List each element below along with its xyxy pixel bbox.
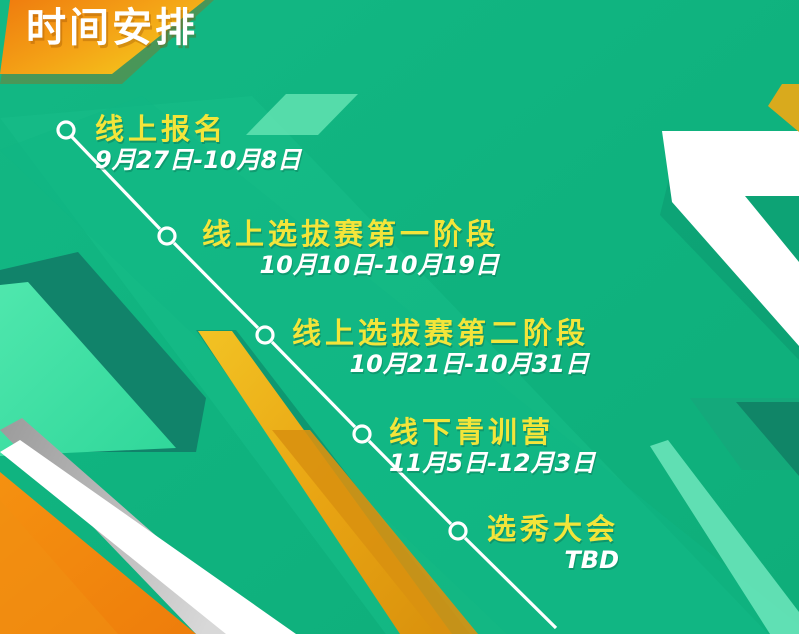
timeline-connector-line bbox=[72, 137, 556, 628]
timeline-item-4-date: 11月5日-12月3日 bbox=[389, 450, 595, 478]
timeline-item-2: 线上选拔赛第一阶段 10月10日-10月19日 bbox=[202, 219, 499, 280]
timeline-marker-2 bbox=[159, 228, 175, 244]
timeline-item-4-name: 线下青训营 bbox=[389, 417, 595, 447]
page-title-text: 时间安排 bbox=[26, 8, 198, 48]
timeline-item-5-date: TBD bbox=[487, 547, 619, 575]
timeline-item-5: 选秀大会 TBD bbox=[487, 514, 619, 575]
timeline-item-5-name: 选秀大会 bbox=[487, 514, 619, 544]
timeline-item-2-name: 线上选拔赛第一阶段 bbox=[202, 219, 499, 249]
timeline-item-3-date: 10月21日-10月31日 bbox=[292, 351, 589, 379]
timeline-marker-3 bbox=[257, 327, 273, 343]
timeline-item-3: 线上选拔赛第二阶段 10月21日-10月31日 bbox=[292, 318, 589, 379]
timeline-marker-1 bbox=[58, 122, 74, 138]
timeline-item-3-name: 线上选拔赛第二阶段 bbox=[292, 318, 589, 348]
timeline-item-4: 线下青训营 11月5日-12月3日 bbox=[389, 417, 595, 478]
timeline-item-1-date: 9月27日-10月8日 bbox=[95, 147, 301, 175]
timeline-marker-4 bbox=[354, 426, 370, 442]
schedule-poster: 时间安排 线上报名 9月27日-10月8日 线上选拔赛第一阶段 10月10日-1… bbox=[0, 0, 799, 634]
timeline-item-2-date: 10月10日-10月19日 bbox=[202, 252, 499, 280]
timeline-marker-5 bbox=[450, 523, 466, 539]
timeline-item-1-name: 线上报名 bbox=[95, 114, 301, 144]
timeline-item-1: 线上报名 9月27日-10月8日 bbox=[95, 114, 301, 175]
page-title: 时间安排 bbox=[26, 8, 198, 48]
